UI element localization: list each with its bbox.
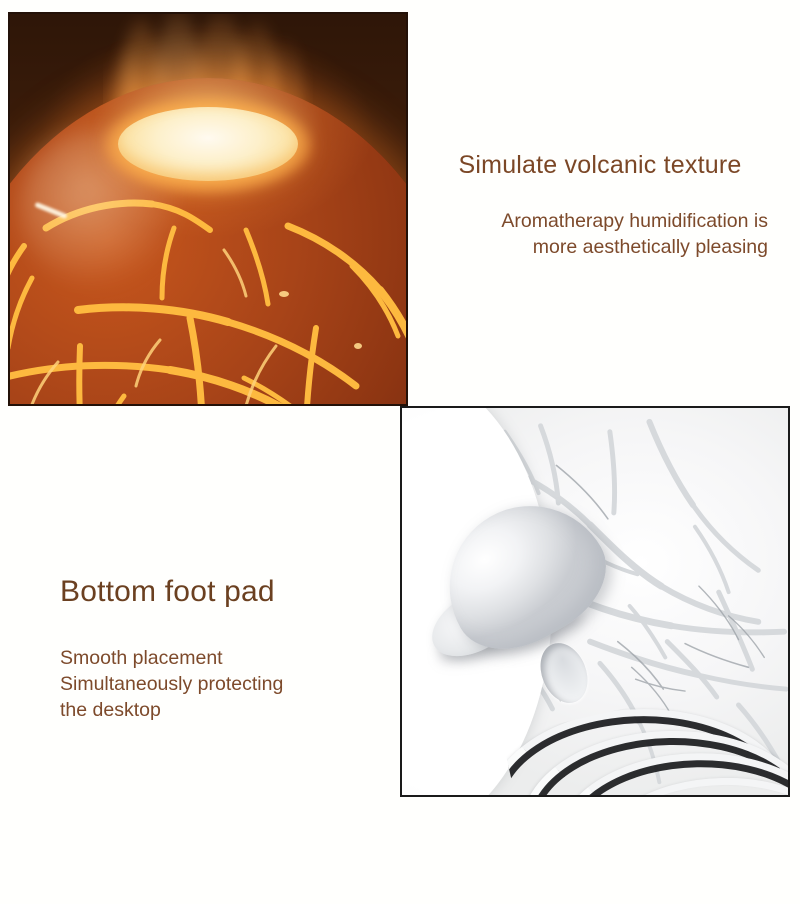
- subtitle-line-2: more aesthetically pleasing: [424, 234, 768, 260]
- product-feature-page: Simulate volcanic texture Aromatherapy h…: [0, 0, 800, 904]
- foot-pad-heading: Bottom foot pad: [60, 574, 390, 610]
- foot-pad-text-block: Bottom foot pad Smooth placement Simulta…: [60, 574, 390, 724]
- subtitle-line-1: Aromatherapy humidification is: [424, 208, 768, 234]
- volcanic-texture-heading: Simulate volcanic texture: [424, 150, 776, 180]
- volcanic-texture-subtitle: Aromatherapy humidification is more aest…: [424, 208, 776, 261]
- volcanic-texture-image: [8, 12, 408, 406]
- volcano-scene: [10, 14, 406, 404]
- foot-pad-scene: [402, 408, 788, 795]
- foot-pad-body: Smooth placement Simultaneously protecti…: [60, 646, 390, 724]
- body-line-1: Smooth placement: [60, 646, 390, 672]
- volcanic-texture-text-block: Simulate volcanic texture Aromatherapy h…: [424, 150, 776, 261]
- body-line-3: the desktop: [60, 698, 390, 724]
- foot-pad-image: [400, 406, 790, 797]
- body-line-2: Simultaneously protecting: [60, 672, 390, 698]
- diffuser-light-opening: [118, 107, 298, 181]
